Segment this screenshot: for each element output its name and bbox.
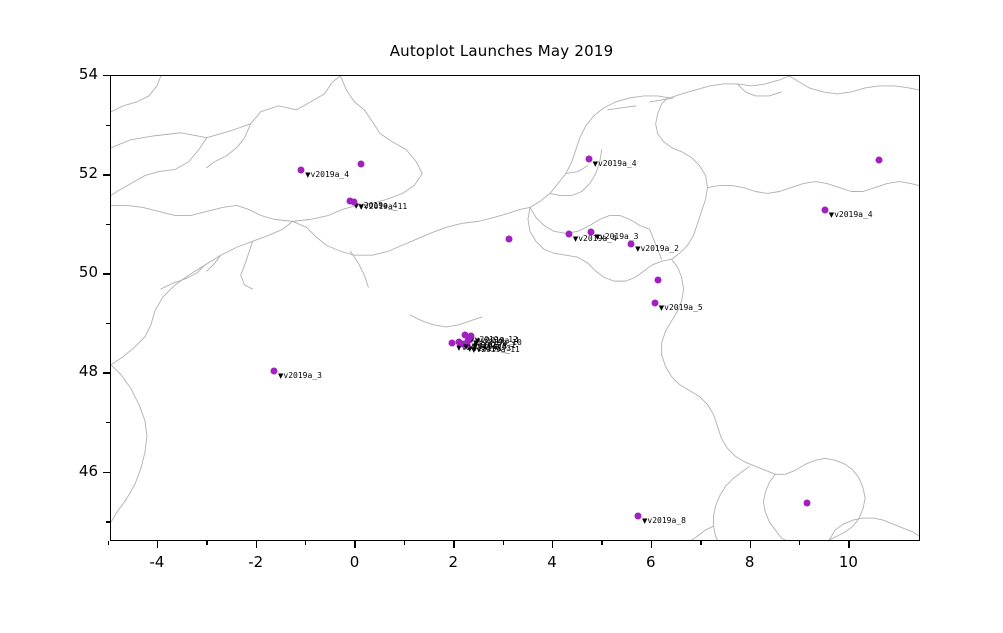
data-point-label: ▼v2019a_5 — [659, 304, 703, 312]
data-point — [876, 157, 883, 164]
x-tick-major — [848, 541, 849, 548]
y-tick-minor — [106, 422, 110, 423]
data-point — [821, 206, 828, 213]
data-point-label: ▼v2019a_4 — [305, 171, 349, 179]
data-point — [358, 161, 365, 168]
y-tick-minor — [106, 224, 110, 225]
data-point-label: ▼v2019a_8 — [463, 343, 507, 351]
x-tick-label: -2 — [248, 553, 263, 571]
data-point — [804, 500, 811, 507]
data-point-label: ▼v2019a_2 — [635, 245, 679, 253]
x-tick-minor — [305, 541, 306, 545]
data-point — [585, 156, 592, 163]
y-tick-major — [103, 273, 110, 274]
x-tick-major — [552, 541, 553, 548]
chart-canvas: Autoplot Launches May 2019 — [0, 0, 1003, 633]
y-tick-major — [103, 75, 110, 76]
y-tick-label: 54 — [52, 65, 98, 83]
data-point — [651, 300, 658, 307]
data-point-label: ▼v2019a_4 — [829, 211, 873, 219]
y-tick-minor — [106, 323, 110, 324]
x-tick-minor — [601, 541, 602, 545]
y-tick-major — [103, 174, 110, 175]
x-tick-minor — [503, 541, 504, 545]
data-point — [587, 229, 594, 236]
x-tick-label: 4 — [547, 553, 557, 571]
x-tick-minor — [700, 541, 701, 545]
y-tick-major — [103, 472, 110, 473]
x-tick-major — [157, 541, 158, 548]
y-tick-label: 46 — [52, 462, 98, 480]
data-point — [505, 235, 512, 242]
x-tick-major — [354, 541, 355, 548]
x-tick-label: 2 — [448, 553, 458, 571]
y-tick-major — [103, 372, 110, 373]
data-point — [565, 230, 572, 237]
x-tick-label: 6 — [646, 553, 656, 571]
x-tick-minor — [108, 541, 109, 545]
data-point — [628, 240, 635, 247]
x-tick-label: 10 — [839, 553, 858, 571]
data-point — [270, 367, 277, 374]
x-tick-minor — [404, 541, 405, 545]
x-tick-major — [453, 541, 454, 548]
data-point — [634, 513, 641, 520]
x-tick-minor — [799, 541, 800, 545]
data-point — [456, 338, 463, 345]
plot-area: ▼v2019a_4▼v2019a_4▼v2019a_11▼v2019a_3▼v2… — [110, 75, 920, 541]
x-tick-major — [651, 541, 652, 548]
x-tick-label: 0 — [350, 553, 360, 571]
data-point-label: ▼v2019a_4 — [593, 160, 637, 168]
y-tick-label: 50 — [52, 263, 98, 281]
data-point — [351, 198, 358, 205]
chart-title: Autoplot Launches May 2019 — [0, 42, 1003, 60]
x-tick-major — [750, 541, 751, 548]
data-points-layer: ▼v2019a_4▼v2019a_4▼v2019a_11▼v2019a_3▼v2… — [111, 76, 919, 540]
data-point-label: ▼v2019a_11 — [358, 203, 407, 211]
x-tick-major — [256, 541, 257, 548]
data-point — [449, 339, 456, 346]
data-point — [298, 167, 305, 174]
x-tick-label: 8 — [745, 553, 755, 571]
data-point-label: ▼v2019a_3 — [278, 372, 322, 380]
y-tick-minor — [106, 125, 110, 126]
data-point-label: ▼v2019a_8 — [642, 517, 686, 525]
y-tick-label: 48 — [52, 362, 98, 380]
x-tick-label: -4 — [149, 553, 164, 571]
data-point — [654, 277, 661, 284]
y-tick-minor — [106, 521, 110, 522]
y-tick-label: 52 — [52, 164, 98, 182]
x-tick-minor — [206, 541, 207, 545]
